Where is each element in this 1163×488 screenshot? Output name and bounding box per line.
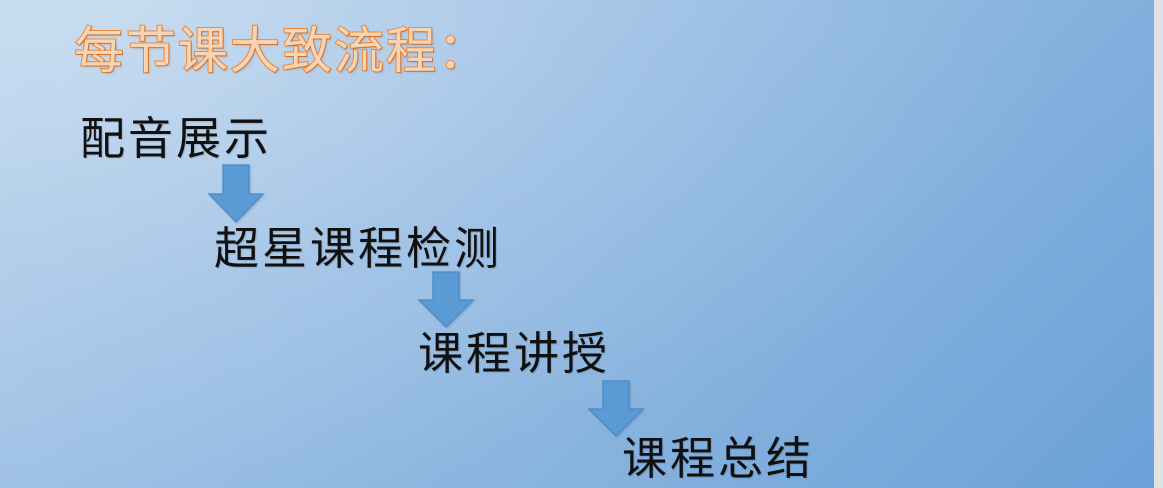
down-arrow-icon [417, 271, 475, 329]
slide-edge-strip [1154, 0, 1163, 488]
flow-step-label: 课程总结 [622, 437, 814, 482]
flow-step-label: 课程讲授 [418, 332, 610, 377]
presentation-slide: 每节课大致流程： 配音展示 超星课程检测 课程讲授 课程总结 [0, 0, 1163, 488]
slide-title: 每节课大致流程： [74, 22, 490, 81]
flow-step-label: 超星课程检测 [214, 227, 502, 272]
flow-step-label: 配音展示 [80, 117, 272, 162]
down-arrow-icon [207, 164, 265, 224]
down-arrow-icon [587, 380, 645, 438]
